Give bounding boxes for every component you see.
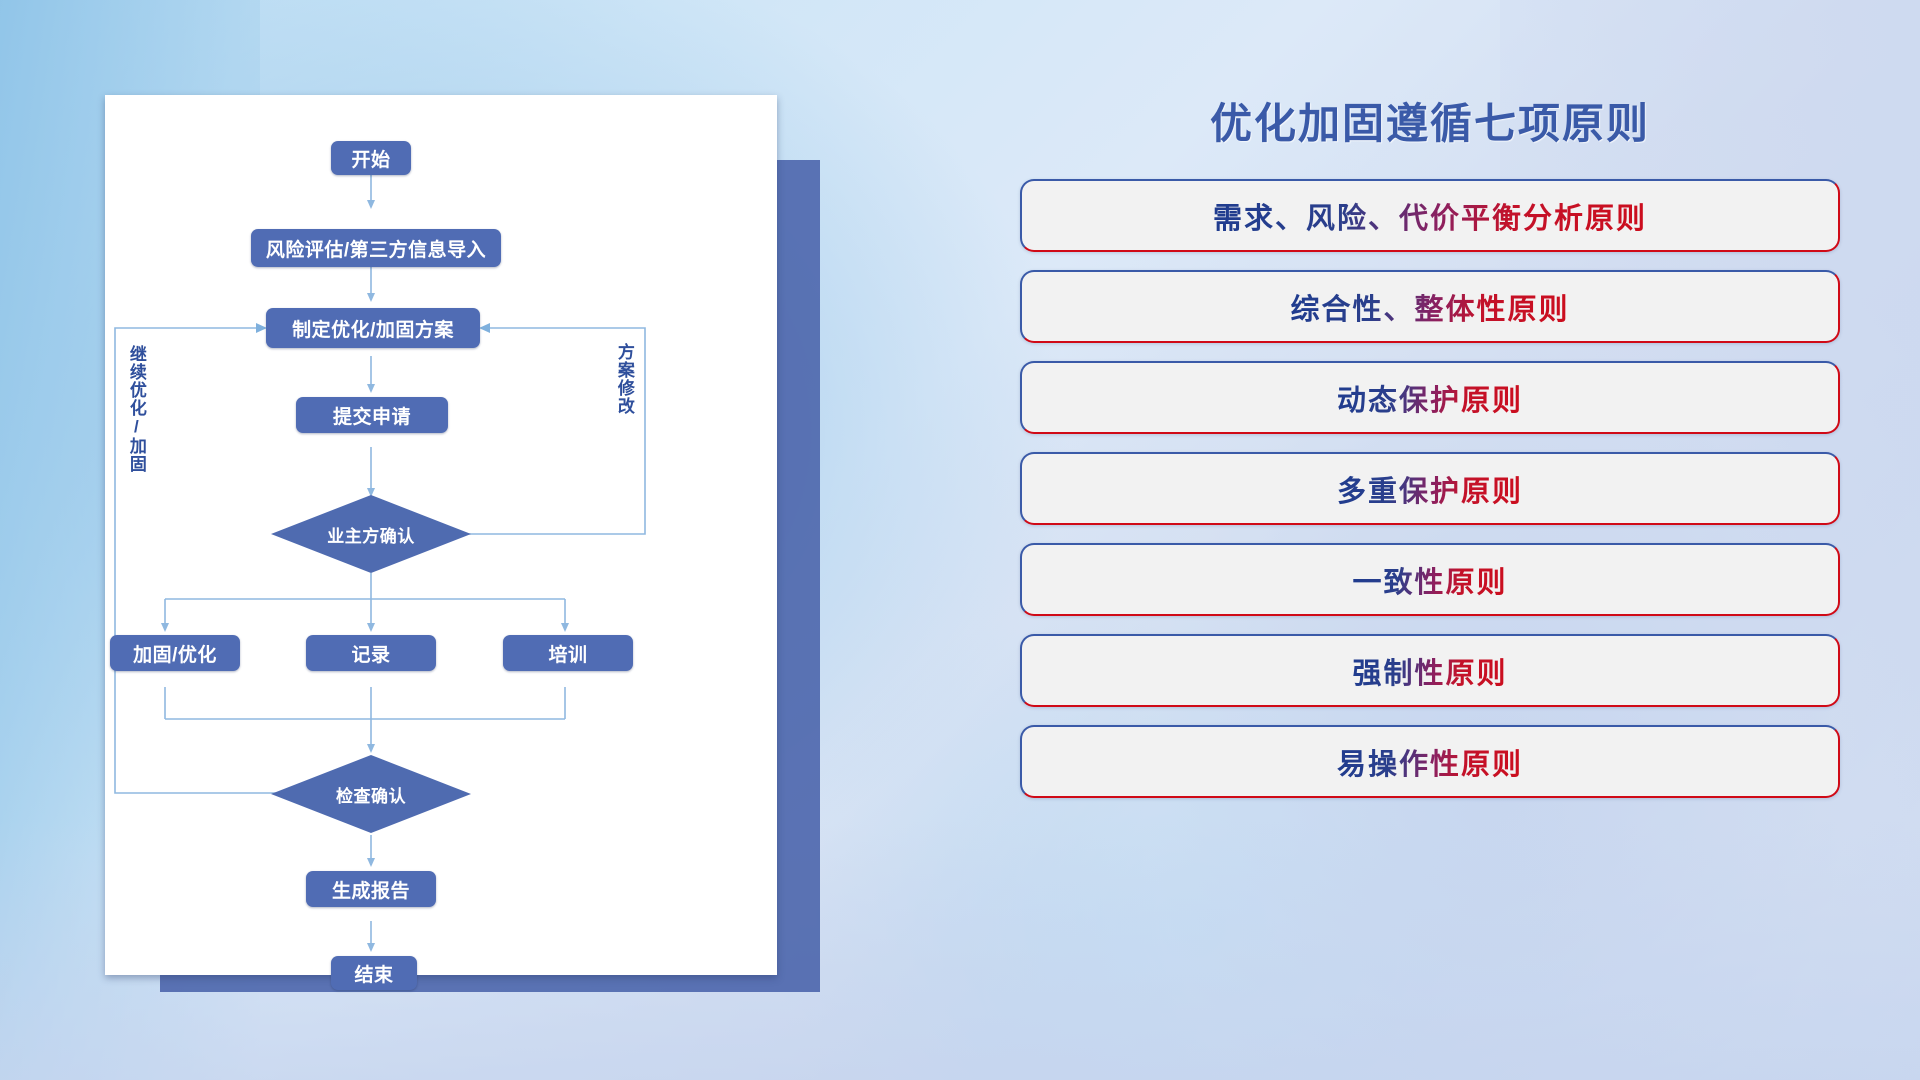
principle-item[interactable]: 动态保护原则 <box>1020 361 1840 434</box>
flow-node-training-label: 培训 <box>548 640 587 667</box>
flow-node-risk-assessment[interactable]: 风险评估/第三方信息导入 <box>251 229 501 267</box>
principle-item-label: 易操作性原则 <box>1337 741 1523 783</box>
flow-node-reinforce-optimize-label: 加固/优化 <box>133 640 217 667</box>
principle-item[interactable]: 多重保护原则 <box>1020 452 1840 525</box>
principle-item-label: 动态保护原则 <box>1337 377 1523 419</box>
principle-item[interactable]: 强制性原则 <box>1020 634 1840 707</box>
principle-item-label: 综合性、整体性原则 <box>1290 286 1569 328</box>
flow-node-start-label: 开始 <box>351 145 390 172</box>
principle-item-label: 多重保护原则 <box>1337 468 1523 510</box>
principles-panel: 优化加固遵循七项原则 需求、风险、代价平衡分析原则 综合性、整体性原则 动态保护… <box>1020 90 1840 1010</box>
principles-list: 需求、风险、代价平衡分析原则 综合性、整体性原则 动态保护原则 多重保护原则 一… <box>1020 179 1840 798</box>
principle-item[interactable]: 一致性原则 <box>1020 543 1840 616</box>
flow-node-make-plan[interactable]: 制定优化/加固方案 <box>266 308 480 348</box>
flow-node-end-label: 结束 <box>354 960 393 987</box>
principle-item[interactable]: 易操作性原则 <box>1020 725 1840 798</box>
principle-item-label: 需求、风险、代价平衡分析原则 <box>1213 195 1647 237</box>
flow-node-reinforce-optimize[interactable]: 加固/优化 <box>110 635 240 671</box>
flow-edge-label-continue-optimize: 继续优化/加固 <box>127 345 145 473</box>
flow-node-make-plan-label: 制定优化/加固方案 <box>292 315 454 342</box>
flow-edge-label-plan-revision: 方案修改 <box>615 343 633 415</box>
flow-node-training[interactable]: 培训 <box>503 635 633 671</box>
principle-item-label: 强制性原则 <box>1352 650 1507 692</box>
principles-title: 优化加固遵循七项原则 <box>1020 90 1840 151</box>
flow-node-submit-application[interactable]: 提交申请 <box>296 397 448 433</box>
flow-node-end[interactable]: 结束 <box>331 956 417 990</box>
flow-node-start[interactable]: 开始 <box>331 141 411 175</box>
flow-node-owner-confirm-label: 业主方确认 <box>327 522 415 547</box>
principle-item[interactable]: 综合性、整体性原则 <box>1020 270 1840 343</box>
flow-node-submit-application-label: 提交申请 <box>333 402 411 429</box>
principle-item-label: 一致性原则 <box>1352 559 1507 601</box>
flowchart-card: 开始 风险评估/第三方信息导入 制定优化/加固方案 提交申请 业主方确认 加固/… <box>105 95 777 975</box>
principle-item[interactable]: 需求、风险、代价平衡分析原则 <box>1020 179 1840 252</box>
flow-node-generate-report[interactable]: 生成报告 <box>306 871 436 907</box>
flow-node-owner-confirm[interactable]: 业主方确认 <box>271 495 471 573</box>
flow-node-generate-report-label: 生成报告 <box>332 876 410 903</box>
flow-node-risk-assessment-label: 风险评估/第三方信息导入 <box>266 235 486 262</box>
flow-node-record[interactable]: 记录 <box>306 635 436 671</box>
flow-node-check-confirm-label: 检查确认 <box>336 782 406 807</box>
flow-node-check-confirm[interactable]: 检查确认 <box>271 755 471 833</box>
flow-node-record-label: 记录 <box>351 640 390 667</box>
